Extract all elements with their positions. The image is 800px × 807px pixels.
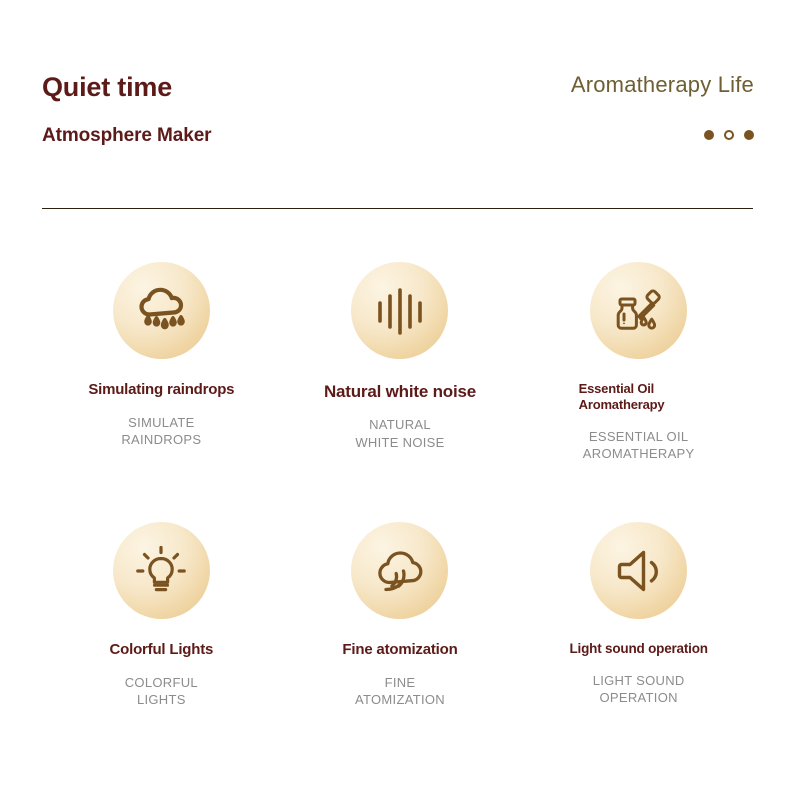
pagination-dot-3[interactable] — [744, 130, 754, 140]
feature-subtitle-line2: LIGHTS — [125, 691, 198, 709]
feature-subtitle: SIMULATE RAINDROPS — [121, 414, 201, 449]
feature-title: Colorful Lights — [110, 641, 214, 660]
rain-cloud-icon — [113, 262, 210, 359]
header-brand-area: Aromatherapy Life — [571, 72, 754, 140]
feature-subtitle-line1: FINE — [355, 674, 445, 692]
feature-subtitle-line1: SIMULATE — [121, 414, 201, 432]
pagination-dot-1[interactable] — [704, 130, 714, 140]
feature-title: Natural white noise — [324, 381, 476, 402]
feature-card-fine-atomization[interactable]: Fine atomization FINE ATOMIZATION — [281, 522, 520, 782]
feature-subtitle: ESSENTIAL OIL AROMATHERAPY — [583, 428, 695, 463]
sound-wave-icon — [351, 262, 448, 359]
feature-subtitle: NATURAL WHITE NOISE — [355, 416, 444, 451]
header-divider — [42, 208, 753, 209]
feature-card-colorful-lights[interactable]: Colorful Lights COLORFUL LIGHTS — [42, 522, 281, 782]
feature-subtitle-line2: AROMATHERAPY — [583, 445, 695, 463]
feature-subtitle-line2: OPERATION — [593, 689, 685, 707]
feature-subtitle-line2: WHITE NOISE — [355, 434, 444, 452]
page-subtitle: Atmosphere Maker — [42, 125, 211, 147]
feature-subtitle-line1: LIGHT SOUND — [593, 672, 685, 690]
feature-title: Simulating raindrops — [88, 381, 234, 400]
feature-subtitle-line1: ESSENTIAL OIL — [583, 428, 695, 446]
essential-oil-dropper-icon — [590, 262, 687, 359]
feature-grid: Simulating raindrops SIMULATE RAINDROPS … — [42, 262, 758, 782]
product-feature-page: Quiet time Atmosphere Maker Aromatherapy… — [0, 0, 800, 807]
feature-subtitle: COLORFUL LIGHTS — [125, 674, 198, 709]
mist-cloud-icon — [351, 522, 448, 619]
feature-subtitle: FINE ATOMIZATION — [355, 674, 445, 709]
feature-subtitle-line2: ATOMIZATION — [355, 691, 445, 709]
feature-title: Light sound operation — [570, 641, 708, 658]
feature-subtitle-line1: COLORFUL — [125, 674, 198, 692]
brand-label: Aromatherapy Life — [571, 72, 754, 98]
feature-subtitle-line1: NATURAL — [355, 416, 444, 434]
feature-card-natural-white-noise[interactable]: Natural white noise NATURAL WHITE NOISE — [281, 262, 520, 522]
pagination-dot-2[interactable] — [724, 130, 734, 140]
feature-subtitle: LIGHT SOUND OPERATION — [593, 672, 685, 707]
feature-card-essential-oil-aromatherapy[interactable]: Essential Oil Aromatherapy ESSENTIAL OIL… — [519, 262, 758, 522]
feature-title: Essential Oil Aromatherapy — [579, 381, 699, 414]
feature-card-simulating-raindrops[interactable]: Simulating raindrops SIMULATE RAINDROPS — [42, 262, 281, 522]
feature-subtitle-line2: RAINDROPS — [121, 431, 201, 449]
speaker-volume-icon — [590, 522, 687, 619]
header-titles: Quiet time Atmosphere Maker — [42, 72, 211, 147]
pagination-dots[interactable] — [571, 130, 754, 140]
light-bulb-icon — [113, 522, 210, 619]
page-header: Quiet time Atmosphere Maker Aromatherapy… — [42, 72, 754, 182]
page-title: Quiet time — [42, 72, 211, 103]
feature-title: Fine atomization — [342, 641, 457, 660]
feature-card-light-sound-operation[interactable]: Light sound operation LIGHT SOUND OPERAT… — [519, 522, 758, 782]
